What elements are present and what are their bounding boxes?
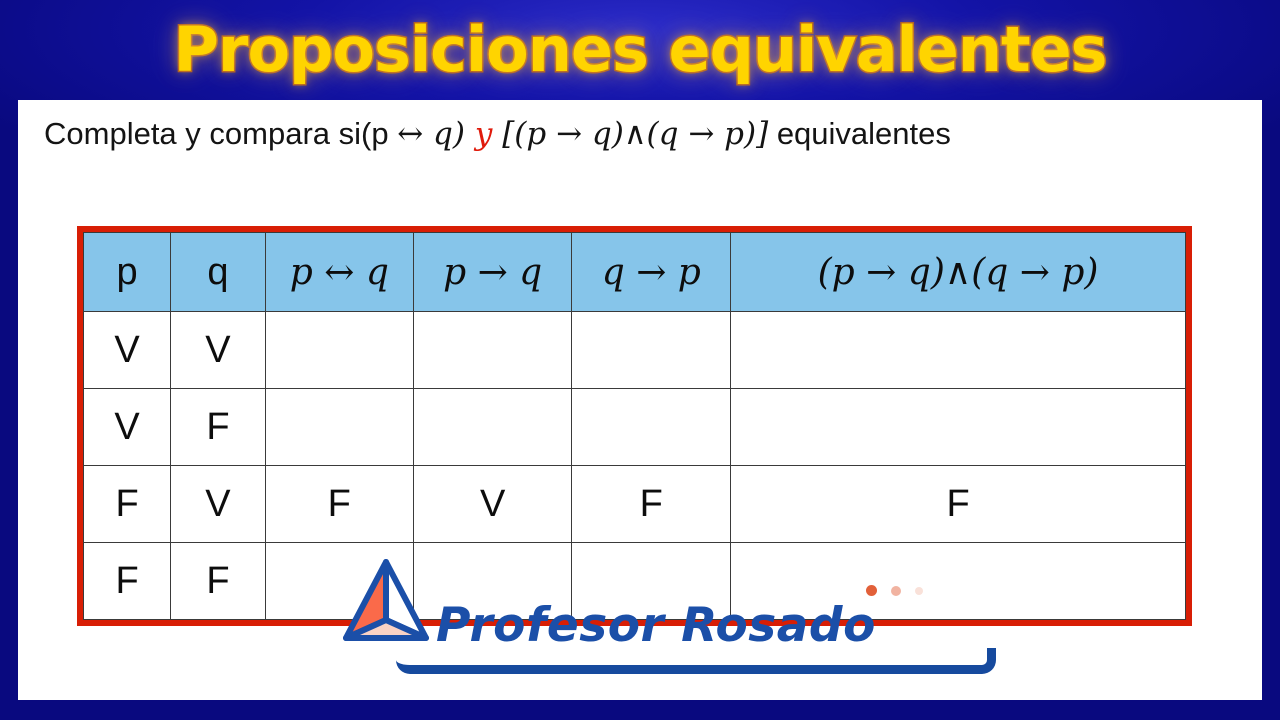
- cell-q[interactable]: F: [171, 389, 266, 466]
- cell-implication-qp[interactable]: [572, 312, 731, 389]
- column-header-biconditional: p ↔ q: [265, 233, 413, 312]
- cell-conjunction[interactable]: [731, 543, 1186, 620]
- cell-implication-pq[interactable]: [413, 389, 572, 466]
- title-banner: Proposiciones equivalentes: [0, 0, 1280, 100]
- prompt-biconditional-symbol: ↔: [397, 116, 423, 152]
- content-panel: Completa y compara si(p ↔ q) y [(p → q)∧…: [18, 100, 1262, 700]
- truth-table: p q p ↔ q p → q q → p (p → q)∧(q → p) V …: [83, 232, 1186, 620]
- cell-implication-qp[interactable]: [572, 389, 731, 466]
- cell-p[interactable]: F: [84, 543, 171, 620]
- prompt-conjunction-word: y: [475, 116, 493, 152]
- cell-q[interactable]: V: [171, 466, 266, 543]
- truth-table-container: p q p ↔ q p → q q → p (p → q)∧(q → p) V …: [77, 226, 1192, 626]
- cell-conjunction[interactable]: [731, 389, 1186, 466]
- prompt-trailing: equivalentes: [768, 116, 951, 151]
- prompt-line: Completa y compara si(p ↔ q) y [(p → q)∧…: [44, 116, 1244, 152]
- table-row: V F: [84, 389, 1186, 466]
- table-row: F F: [84, 543, 1186, 620]
- truth-table-body: V V V F: [84, 312, 1186, 620]
- cell-biconditional[interactable]: [265, 543, 413, 620]
- prompt-lead: Completa y compara si(p: [44, 116, 397, 151]
- column-header-q: q: [171, 233, 266, 312]
- cell-implication-qp[interactable]: F: [572, 466, 731, 543]
- cell-implication-qp[interactable]: [572, 543, 731, 620]
- prompt-q-close: q): [423, 116, 475, 152]
- table-row: F V F V F F: [84, 466, 1186, 543]
- cell-implication-pq[interactable]: V: [413, 466, 572, 543]
- table-row: V V: [84, 312, 1186, 389]
- cell-p[interactable]: F: [84, 466, 171, 543]
- column-header-conjunction: (p → q)∧(q → p): [731, 233, 1186, 312]
- cell-biconditional[interactable]: [265, 312, 413, 389]
- cell-conjunction[interactable]: F: [731, 466, 1186, 543]
- cell-q[interactable]: V: [171, 312, 266, 389]
- cell-implication-pq[interactable]: [413, 543, 572, 620]
- cell-q[interactable]: F: [171, 543, 266, 620]
- cell-biconditional[interactable]: F: [265, 466, 413, 543]
- column-header-implication-qp: q → p: [572, 233, 731, 312]
- table-header-row: p q p ↔ q p → q q → p (p → q)∧(q → p): [84, 233, 1186, 312]
- cell-p[interactable]: V: [84, 312, 171, 389]
- cell-conjunction[interactable]: [731, 312, 1186, 389]
- column-header-implication-pq: p → q: [413, 233, 572, 312]
- slide-root: Proposiciones equivalentes Completa y co…: [0, 0, 1280, 720]
- page-title: Proposiciones equivalentes: [173, 19, 1106, 81]
- watermark-underline: [396, 648, 996, 674]
- column-header-p: p: [84, 233, 171, 312]
- truth-table-head: p q p ↔ q p → q q → p (p → q)∧(q → p): [84, 233, 1186, 312]
- cell-biconditional[interactable]: [265, 389, 413, 466]
- prompt-bracket-expression: [(p → q)∧(q → p)]: [492, 116, 768, 152]
- cell-p[interactable]: V: [84, 389, 171, 466]
- cell-implication-pq[interactable]: [413, 312, 572, 389]
